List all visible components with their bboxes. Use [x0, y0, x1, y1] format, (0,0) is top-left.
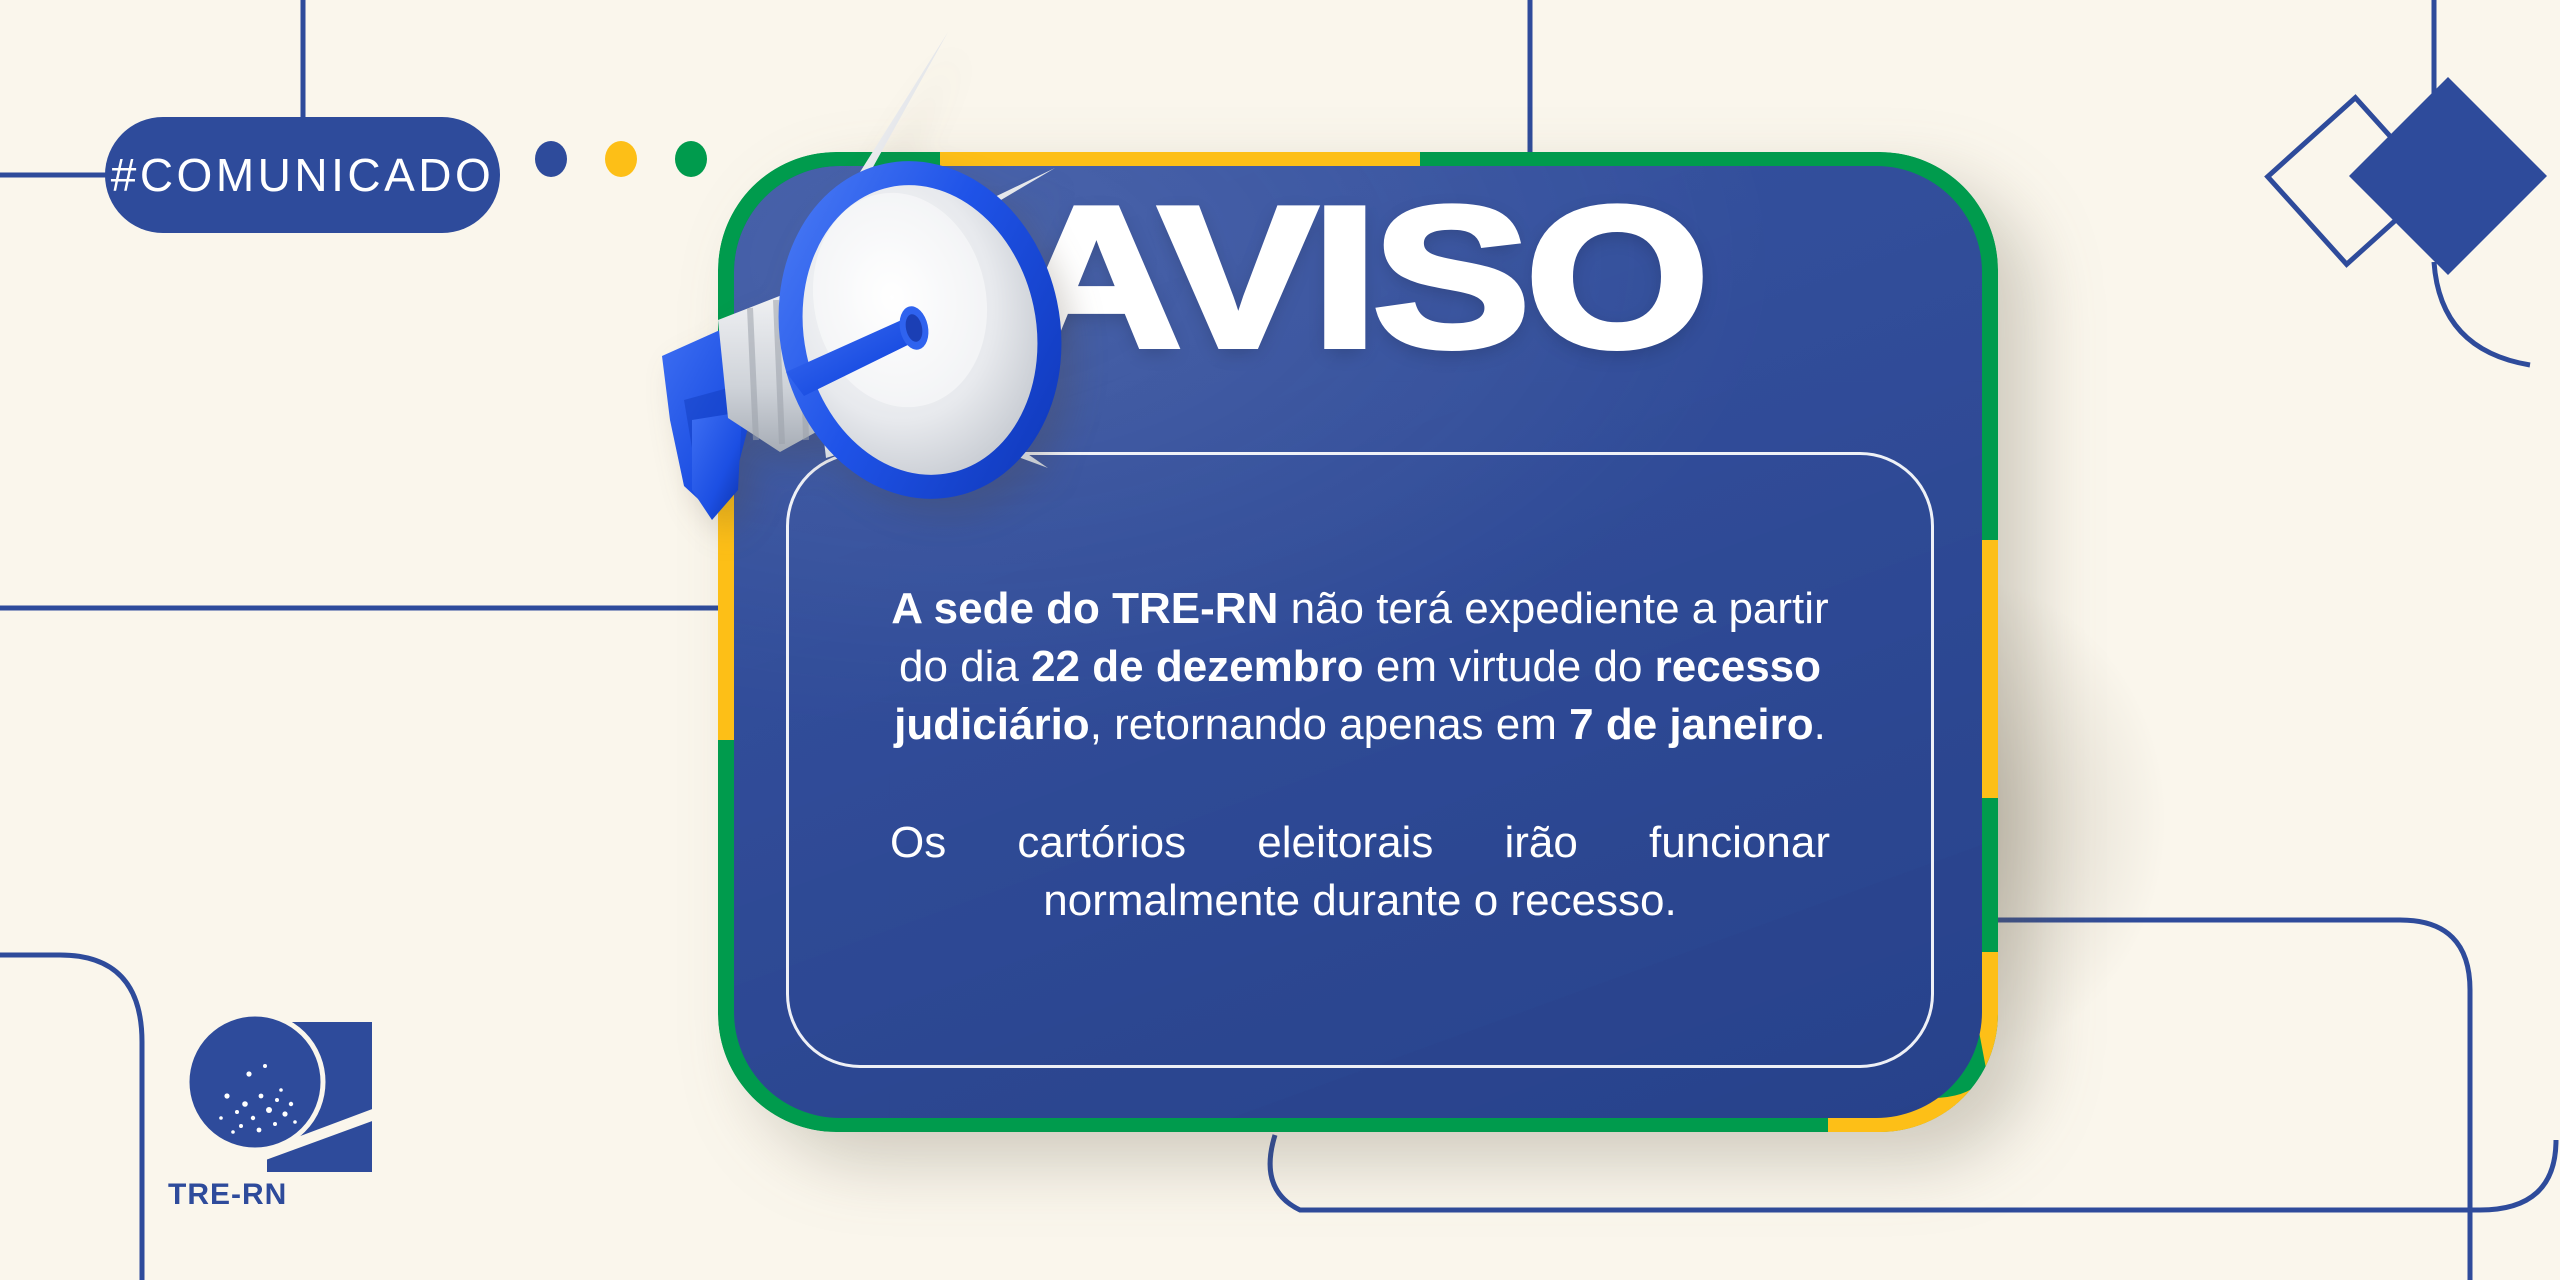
decorative-squares: [2260, 60, 2560, 300]
megaphone-3d-icon: [600, 20, 1120, 590]
poster-canvas: #COMUNICADO: [0, 0, 2560, 1280]
comunicado-badge-label: #COMUNICADO: [111, 148, 495, 202]
rotated-square-filled: [2349, 77, 2547, 275]
text-7-janeiro: 7 de janeiro: [1569, 700, 1814, 749]
text-period: .: [1814, 700, 1826, 749]
dot-blue: [535, 141, 567, 177]
paragraph-one: A sede do TRE-RN não terá expediente a p…: [890, 580, 1830, 754]
paragraph-two: Os cartórios eleitorais irão funcionar n…: [890, 814, 1830, 930]
text-sede-tre-rn: A sede do TRE-RN: [891, 584, 1278, 633]
text-22-dezembro: 22 de dezembro: [1031, 642, 1364, 691]
text-retornando: , retornando apenas em: [1090, 700, 1569, 749]
comunicado-badge[interactable]: #COMUNICADO: [105, 117, 500, 233]
text-em-virtude: em virtude do: [1364, 642, 1655, 691]
tre-rn-logo-icon: [175, 1000, 405, 1210]
